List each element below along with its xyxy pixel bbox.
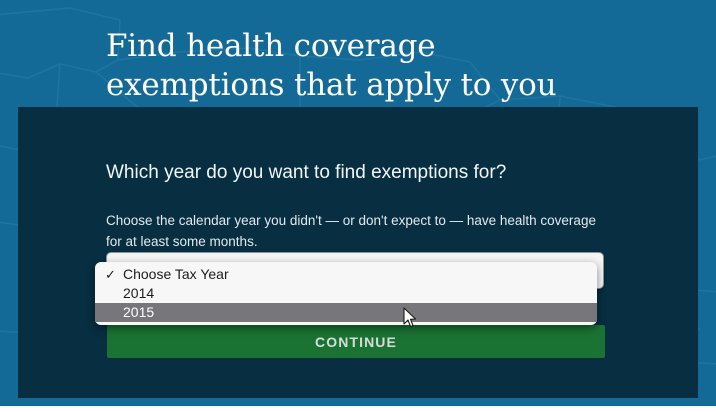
continue-button[interactable]: CONTINUE [107,325,605,358]
page-title: Find health coverage exemptions that app… [106,27,666,105]
question-description: Choose the calendar year you didn't — or… [106,210,606,252]
question-heading: Which year do you want to find exemption… [106,161,646,185]
dropdown-option-2015[interactable]: 2015 [95,303,597,322]
page-bottom-strip [0,406,716,412]
tax-year-dropdown-menu[interactable]: Choose Tax Year 2014 2015 [95,262,597,325]
exemptions-screener-page: Find health coverage exemptions that app… [0,0,716,412]
dropdown-option-2014[interactable]: 2014 [95,284,597,303]
dropdown-option-choose-tax-year[interactable]: Choose Tax Year [95,265,597,284]
